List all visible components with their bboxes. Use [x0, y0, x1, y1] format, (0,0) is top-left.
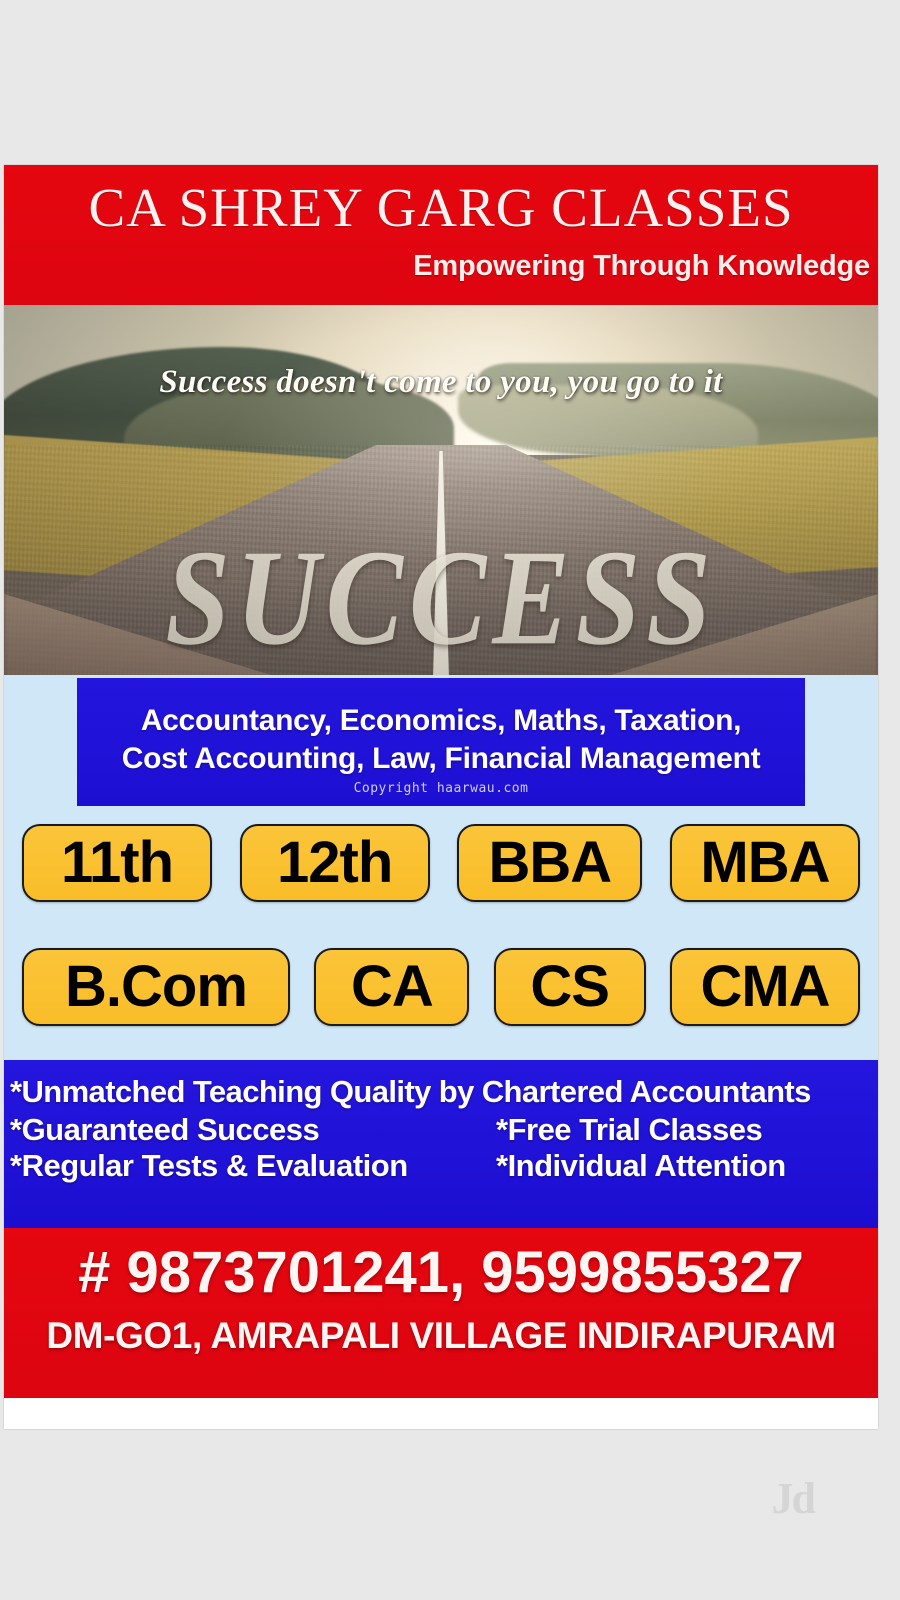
course-badge-cma[interactable]: CMA	[670, 948, 860, 1026]
institute-tagline: Empowering Through Knowledge	[413, 249, 870, 283]
course-badge-row-1: 11th 12th BBA MBA	[4, 824, 878, 902]
subjects-band: Accountancy, Economics, Maths, Taxation,…	[4, 675, 878, 810]
subjects-box: Accountancy, Economics, Maths, Taxation,…	[77, 678, 805, 806]
subjects-line-2: Cost Accounting, Law, Financial Manageme…	[77, 740, 805, 778]
justdial-watermark: Jd	[772, 1476, 814, 1522]
hero-road-image: SUCCESS Success doesn't come to you, you…	[4, 305, 878, 675]
copyright-watermark: Copyright haarwau.com	[77, 781, 805, 796]
subjects-line-1: Accountancy, Economics, Maths, Taxation,	[77, 702, 805, 740]
course-badge-row-2: B.Com CA CS CMA	[4, 948, 878, 1026]
course-badge-ca[interactable]: CA	[314, 948, 469, 1026]
poster-header: CA SHREY GARG CLASSES Empowering Through…	[4, 165, 878, 305]
feature-regular-tests: *Regular Tests & Evaluation	[10, 1148, 408, 1184]
institute-name: CA SHREY GARG CLASSES	[4, 177, 878, 239]
course-badge-11th[interactable]: 11th	[22, 824, 212, 902]
feature-guaranteed-success: *Guaranteed Success	[10, 1112, 319, 1148]
feature-individual-attention: *Individual Attention	[496, 1148, 786, 1184]
course-badges-area: 11th 12th BBA MBA B.Com CA CS CMA	[4, 810, 878, 1060]
course-badge-bcom[interactable]: B.Com	[22, 948, 290, 1026]
advertisement-poster: CA SHREY GARG CLASSES Empowering Through…	[4, 165, 878, 1429]
features-section: *Unmatched Teaching Quality by Chartered…	[4, 1060, 878, 1228]
contact-footer: # 9873701241, 9599855327 DM-GO1, AMRAPAL…	[4, 1228, 878, 1398]
road-painted-word: SUCCESS	[4, 523, 878, 674]
course-badge-bba[interactable]: BBA	[457, 824, 642, 902]
contact-phone-numbers[interactable]: # 9873701241, 9599855327	[4, 1240, 878, 1306]
course-badge-mba[interactable]: MBA	[670, 824, 860, 902]
course-badge-cs[interactable]: CS	[494, 948, 646, 1026]
subjects-text: Accountancy, Economics, Maths, Taxation,…	[77, 702, 805, 778]
feature-headline: *Unmatched Teaching Quality by Chartered…	[10, 1074, 811, 1110]
course-badge-12th[interactable]: 12th	[240, 824, 430, 902]
contact-address: DM-GO1, AMRAPALI VILLAGE INDIRAPURAM	[4, 1314, 878, 1358]
feature-free-trial-classes: *Free Trial Classes	[496, 1112, 762, 1148]
motivational-quote: Success doesn't come to you, you go to i…	[4, 363, 878, 401]
